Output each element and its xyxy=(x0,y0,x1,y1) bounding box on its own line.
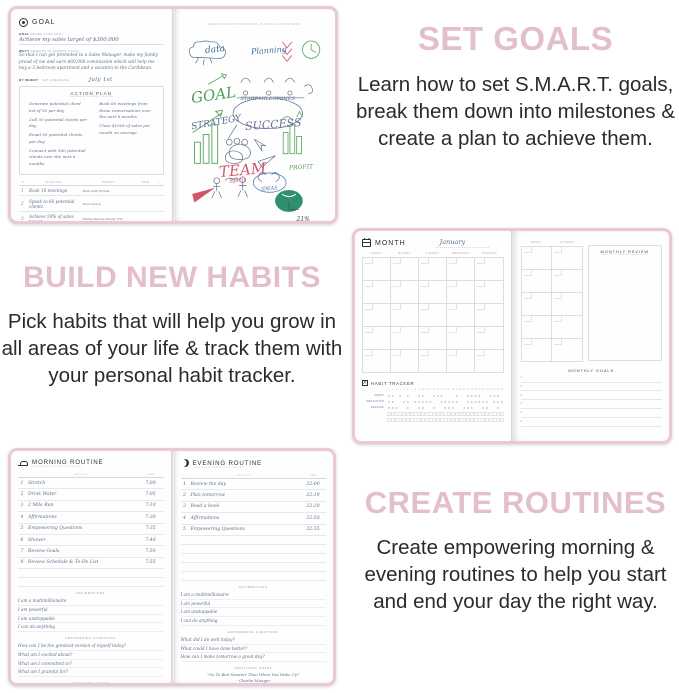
morning-routine-subtitle: THE MORNING ROUTINE FOR THE DAY xyxy=(31,466,164,468)
doodle-word: data xyxy=(204,44,225,56)
evening-routine-table: # ACTIVITY TIME 1Review the day22:002Pla… xyxy=(181,473,327,581)
activity-text: Affirmations xyxy=(26,512,138,523)
activity-time: 22:10 xyxy=(300,490,326,501)
morning-affirmations-list[interactable]: I am a multimillionaireI am powerfulI am… xyxy=(18,597,164,632)
promo-routines-body: Create empowering morning & evening rout… xyxy=(352,534,679,616)
row-number: 5 xyxy=(18,523,26,534)
row-number: 5 xyxy=(181,524,189,535)
row-number: 1 xyxy=(18,478,26,489)
activity-time: 22:50 xyxy=(300,513,326,524)
handwritten-line[interactable]: I am a multimillionaire xyxy=(18,597,164,606)
handwritten-line[interactable]: What could I have done better? xyxy=(181,645,327,654)
month-review-page: FRIDAY SATURDAY MONTHLY REVIEW REFLECTIN… xyxy=(514,231,670,441)
month-calendar-page: MONTH January SUNDAY MONDAY TUESDAY WEDN… xyxy=(355,231,511,441)
handwritten-line[interactable]: I can do anything xyxy=(181,617,327,626)
weekday-label: WEDNESDAY xyxy=(447,253,475,257)
table-row[interactable]: 4Affirmations7:30 xyxy=(18,512,164,523)
month-planner-spread: MONTH January SUNDAY MONDAY TUESDAY WEDN… xyxy=(352,228,672,444)
action-plan-right-list: Book 60 meetings from these conversation… xyxy=(95,101,157,170)
table-row-empty[interactable] xyxy=(181,544,327,553)
morning-routine-title: MORNING ROUTINE xyxy=(32,459,103,466)
evening-routine-title: EVENING ROUTINE xyxy=(193,460,262,467)
table-row: 2 Speak to 60 potential clients New Lapt… xyxy=(19,196,164,211)
deadline-field: BY WHEN? SET A DEADLINE July 1st xyxy=(19,77,164,83)
activity-time: 7:10 xyxy=(138,500,164,511)
evening-routine-page: EVENING ROUTINE WIND DOWN & REFLECT ON T… xyxy=(174,451,334,683)
why-value: So that I can get promoted to a Sales Ma… xyxy=(19,53,164,73)
list-item: Generate potential client list of 50 per… xyxy=(25,101,87,114)
calendar-day-cell[interactable] xyxy=(522,247,553,270)
evening-questions-list[interactable]: What did I do well today?What could I ha… xyxy=(181,636,327,662)
table-row[interactable]: 4Affirmations22:50 xyxy=(181,513,327,524)
evening-questions-title: EMPOWERING QUESTIONS xyxy=(181,631,327,634)
habit-name: READING xyxy=(362,406,384,409)
row-number: 3 xyxy=(181,501,189,512)
habit-tracker-title: HABIT TRACKER xyxy=(371,381,414,386)
goal-number: 5 xyxy=(521,411,522,414)
table-row-empty[interactable] xyxy=(181,571,327,580)
calendar-day-cell[interactable] xyxy=(363,281,391,304)
target-icon xyxy=(19,18,28,27)
calendar-grid-right[interactable] xyxy=(521,246,583,362)
calendar-day-cell[interactable] xyxy=(391,281,419,304)
morning-affirmations-title: AFFIRMATIONS xyxy=(18,592,164,595)
month-page-header: MONTH January xyxy=(362,238,504,248)
morning-routine-page: MORNING ROUTINE THE MORNING ROUTINE FOR … xyxy=(11,451,171,683)
calendar-day-cell[interactable] xyxy=(391,258,419,281)
calendar-day-cell[interactable] xyxy=(475,258,503,281)
habit-tracker-row[interactable] xyxy=(362,418,504,422)
activity-time: 22:55 xyxy=(300,524,326,535)
calendar-day-cell[interactable] xyxy=(363,258,391,281)
row-number: 4 xyxy=(181,513,189,524)
weekday-label: TUESDAY xyxy=(419,253,447,257)
evening-routine-header: EVENING ROUTINE xyxy=(181,459,327,467)
deadline-value: July 1st xyxy=(89,77,113,83)
list-item: Book 60 meetings from these conversation… xyxy=(95,101,157,121)
table-row-empty[interactable] xyxy=(181,562,327,571)
handwritten-line[interactable]: How can I be the greatest version of mys… xyxy=(18,642,164,651)
handwritten-line[interactable]: I can do anything xyxy=(18,623,164,632)
row-number: 7 xyxy=(18,546,26,557)
goal-number: 2 xyxy=(521,385,522,388)
activity-text: 2 Mile Run xyxy=(26,500,138,511)
calendar-day-cell[interactable] xyxy=(419,350,447,373)
weekday-label: MONDAY xyxy=(390,253,418,257)
activity-text: Stretch xyxy=(26,478,138,489)
handwritten-line[interactable]: I am powerful xyxy=(18,606,164,615)
habit-tracker-row[interactable]: MEDITATIONXX XX XXXXX XXXXX XXXXXX XXX xyxy=(362,400,504,404)
row-number: 3 xyxy=(18,500,26,511)
habit-day-cell[interactable] xyxy=(500,394,504,398)
doodle-word: MILESTONES xyxy=(259,96,295,102)
calendar-day-cell[interactable] xyxy=(363,304,391,327)
promo-create-routines: CREATE ROUTINES Create empowering mornin… xyxy=(352,487,679,615)
calendar-day-cell[interactable] xyxy=(522,316,553,339)
promo-habits-body: Pick habits that will help you grow in a… xyxy=(0,308,344,390)
action-plan-box: ACTION PLAN STEPS NEEDED TO ACHIEVE YOUR… xyxy=(19,86,164,175)
goal-number: 1 xyxy=(521,376,522,379)
activity-text: Review Goals xyxy=(26,546,138,557)
table-row[interactable]: 5Empowering Questions7:35 xyxy=(18,523,164,534)
action-plan-subtitle: STEPS NEEDED TO ACHIEVE YOUR GOAL xyxy=(25,96,158,98)
habit-day-cells[interactable]: XX X X XX XXX X XXXX XXX xyxy=(387,394,504,398)
activity-text: Shower xyxy=(26,534,138,545)
calendar-day-cell[interactable] xyxy=(447,304,475,327)
monthly-goals-title: MONTHLY GOALS xyxy=(521,368,663,373)
goal-number: 6 xyxy=(521,420,522,423)
weekday-label: FRIDAY xyxy=(521,242,552,246)
habit-tracker-row[interactable]: READINGXXX X XX X XXX XXX XX X xyxy=(362,406,504,410)
promo-build-habits: BUILD NEW HABITS Pick habits that will h… xyxy=(0,262,344,389)
table-row-empty[interactable] xyxy=(181,553,327,562)
weekday-header-row: SUNDAY MONDAY TUESDAY WEDNESDAY THURSDAY xyxy=(362,253,504,257)
habit-day-cell[interactable] xyxy=(500,412,504,416)
row-number: 6 xyxy=(18,534,26,545)
calendar-day-cell[interactable] xyxy=(419,304,447,327)
list-item: Call 50 potential clients per day xyxy=(25,117,87,130)
table-row[interactable]: 1Review the day22:00 xyxy=(181,479,327,490)
calendar-day-cell[interactable] xyxy=(447,350,475,373)
promo-set-goals: SET GOALS Learn how to set S.M.A.R.T. go… xyxy=(352,22,679,152)
activity-text: Review the day xyxy=(189,479,301,490)
evening-notes-title: ADDITIONAL NOTES xyxy=(181,667,327,670)
promo-goals-heading: SET GOALS xyxy=(352,22,679,57)
habit-day-cells[interactable] xyxy=(387,412,504,416)
calendar-day-cell[interactable] xyxy=(552,247,583,270)
handwritten-line[interactable]: I am powerful xyxy=(181,600,327,609)
row-number: 1 xyxy=(181,479,189,490)
routines-planner-spread: MORNING ROUTINE THE MORNING ROUTINE FOR … xyxy=(8,448,336,686)
checkbox-icon: ✗ xyxy=(362,380,368,386)
table-row[interactable]: 8Review Schedule & To-Do List7:55 xyxy=(18,557,164,568)
activity-text: Review Schedule & To-Do List xyxy=(26,557,138,568)
calendar-day-cell[interactable] xyxy=(447,281,475,304)
calendar-day-cell[interactable] xyxy=(391,304,419,327)
calendar-day-cell[interactable] xyxy=(419,258,447,281)
activity-time: 7:55 xyxy=(138,557,164,568)
habit-name: SPORT xyxy=(362,394,384,397)
habit-day-cell[interactable] xyxy=(500,418,504,422)
calendar-day-cell[interactable] xyxy=(447,327,475,350)
habit-day-cell[interactable] xyxy=(500,406,504,410)
calendar-day-cell[interactable] xyxy=(552,339,583,362)
morning-routine-header: MORNING ROUTINE xyxy=(18,459,164,466)
promo-habits-heading: BUILD NEW HABITS xyxy=(0,262,344,294)
activity-text: Affirmations xyxy=(189,513,301,524)
table-row[interactable]: 2Drink Water7:05 xyxy=(18,489,164,500)
row-number: 2 xyxy=(181,490,189,501)
calendar-day-cell[interactable] xyxy=(522,339,553,362)
goal-number: 4 xyxy=(521,402,522,405)
activity-text: Empowering Questions xyxy=(26,523,138,534)
table-row[interactable]: 7Review Goals7:50 xyxy=(18,546,164,557)
habit-day-cell[interactable]: X xyxy=(500,400,504,404)
handwritten-line[interactable]: What did I do well today? xyxy=(181,636,327,645)
evening-quote: "Go To Bed Smarter Than When You Woke Up… xyxy=(181,672,327,683)
handwritten-line[interactable]: How can I make tomorrow a great day? xyxy=(181,653,327,662)
handwritten-line[interactable]: What am I excited about? xyxy=(18,651,164,660)
activity-time: 7:05 xyxy=(138,489,164,500)
goal-page-header: GOAL xyxy=(19,18,164,27)
doodle-word: Spirit xyxy=(228,176,246,184)
calendar-day-cell[interactable] xyxy=(552,270,583,293)
weekday-label: THURSDAY xyxy=(475,253,503,257)
habit-day-cells[interactable]: XXX X XX X XXX XXX XX X xyxy=(387,406,504,410)
row-number: 4 xyxy=(18,512,26,523)
table-row[interactable]: 1Stretch7:00 xyxy=(18,478,164,489)
monthly-goal-row[interactable]: 2 xyxy=(521,385,663,392)
habit-day-cells[interactable]: XX XX XXXXX XXXXX XXXXXX XXX xyxy=(387,400,504,404)
day-number: 31 xyxy=(500,388,504,392)
monthly-goal-row[interactable]: 5 xyxy=(521,411,663,418)
evening-affirmations-title: AFFIRMATIONS xyxy=(181,586,327,589)
activity-time: 7:00 xyxy=(138,478,164,489)
milestones-table: # MILESTONE REWARD DATE ✓ 1 Book 10 meet… xyxy=(19,180,164,221)
handwritten-line[interactable]: What am I committed to? xyxy=(18,660,164,669)
quote-text: "Go To Bed Smarter Than When You Woke Up… xyxy=(207,672,299,677)
table-row-empty[interactable] xyxy=(181,535,327,544)
month-title: MONTH xyxy=(375,240,406,247)
monthly-goal-row[interactable]: 3 xyxy=(521,394,663,401)
monthly-goal-row[interactable]: 6 xyxy=(521,420,663,427)
row-number: 2 xyxy=(18,489,26,500)
table-row[interactable]: 32 Mile Run7:10 xyxy=(18,500,164,511)
evening-affirmations-list[interactable]: I am a multimillionaireI am powerfulI am… xyxy=(181,591,327,626)
calendar-day-cell[interactable] xyxy=(552,316,583,339)
activity-text: Plan tomorrow xyxy=(189,490,301,501)
moon-icon xyxy=(181,459,189,467)
activity-text: Drink Water xyxy=(26,489,138,500)
doodle-canvas: dataPlanningGOALSTARTMILESTONESSTRATEGYS… xyxy=(183,28,328,212)
table-row[interactable]: 3Read a book22:20 xyxy=(181,501,327,512)
activity-time: 22:00 xyxy=(300,479,326,490)
monthly-goals-list[interactable]: 123456 xyxy=(521,376,663,427)
activity-time: 7:50 xyxy=(138,546,164,557)
habit-tracker-row: 1234567891011121314151617181920212223242… xyxy=(362,388,504,392)
calendar-day-cell[interactable] xyxy=(522,270,553,293)
calendar-day-cell[interactable] xyxy=(475,327,503,350)
weekday-label: SATURDAY xyxy=(552,242,583,246)
doodle-word: 21% xyxy=(297,216,310,221)
product-feature-collage: GOAL GOAL DEFINE YOUR GOAL Achieve my sa… xyxy=(0,0,679,693)
habit-tracker-header: ✗ HABIT TRACKER xyxy=(362,380,504,386)
habit-day-cells[interactable] xyxy=(387,418,504,422)
handwritten-line[interactable]: I am unstoppable xyxy=(18,615,164,624)
calendar-day-cell[interactable] xyxy=(522,293,553,316)
calendar-day-cell[interactable] xyxy=(419,327,447,350)
table-row-empty[interactable] xyxy=(18,569,164,578)
promo-routines-heading: CREATE ROUTINES xyxy=(352,487,679,520)
handwritten-line[interactable]: I am unstoppable xyxy=(181,608,327,617)
calendar-grid-left[interactable] xyxy=(362,257,504,373)
activity-time: 7:30 xyxy=(138,512,164,523)
table-row: 3 Achieve 50% of sales target Dining Wee… xyxy=(19,211,164,221)
quote-author: - Charlie Munger xyxy=(181,678,327,683)
goal-page-title: GOAL xyxy=(32,19,55,26)
monthly-goal-row[interactable]: 1 xyxy=(521,376,663,383)
activity-text: Read a book xyxy=(189,501,301,512)
table-row: 1 Book 10 meetings Meal with friends xyxy=(19,186,164,196)
weekday-header-row-right: FRIDAY SATURDAY xyxy=(521,242,583,246)
monthly-review-box[interactable]: MONTHLY REVIEW REFLECTING ON THIS MONTH … xyxy=(588,245,662,361)
morning-notes-title: ADDITIONAL NOTES xyxy=(18,682,164,683)
sunrise-icon xyxy=(18,460,28,466)
calendar-day-cell[interactable] xyxy=(419,281,447,304)
calendar-day-cell[interactable] xyxy=(363,327,391,350)
habit-day-numbers: 1234567891011121314151617181920212223242… xyxy=(387,388,504,392)
goal-planner-spread: GOAL GOAL DEFINE YOUR GOAL Achieve my sa… xyxy=(8,6,338,224)
action-plan-left-list: Generate potential client list of 50 per… xyxy=(25,101,87,170)
habit-name: MEDITATION xyxy=(362,400,384,403)
list-item: Connect with 360 potential clients over … xyxy=(25,148,87,168)
activity-text: Empowering Questions xyxy=(189,524,301,535)
doodle-word: START xyxy=(241,96,258,102)
month-value: January xyxy=(436,238,490,248)
activity-time: 7:35 xyxy=(138,523,164,534)
activity-time: 22:20 xyxy=(300,501,326,512)
table-row[interactable]: 2Plan tomorrow22:10 xyxy=(181,490,327,501)
activity-time: 7:40 xyxy=(138,534,164,545)
evening-routine-subtitle: WIND DOWN & REFLECT ON THE DAY xyxy=(194,467,327,469)
table-row[interactable]: 5Empowering Questions22:55 xyxy=(181,524,327,535)
doodle-page: FREE SPACE FOR STRATEGIZING, PLANNING & … xyxy=(175,9,336,221)
goal-page: GOAL GOAL DEFINE YOUR GOAL Achieve my sa… xyxy=(11,9,172,221)
weekday-label: SUNDAY xyxy=(362,253,390,257)
list-item: Close $100k of sales per month on averag… xyxy=(95,123,157,136)
calendar-day-cell[interactable] xyxy=(475,350,503,373)
calendar-day-cell[interactable] xyxy=(391,350,419,373)
doodle-word: PROFIT xyxy=(288,163,312,171)
calendar-day-cell[interactable] xyxy=(363,350,391,373)
table-row[interactable]: 6Shower7:40 xyxy=(18,534,164,545)
calendar-day-cell[interactable] xyxy=(475,304,503,327)
calendar-day-cell[interactable] xyxy=(447,258,475,281)
monthly-review-subtitle: REFLECTING ON THIS MONTH - WHAT WENT WEL… xyxy=(592,254,658,256)
handwritten-line[interactable]: I am a multimillionaire xyxy=(181,591,327,600)
habit-tracker-rows[interactable]: 1234567891011121314151617181920212223242… xyxy=(362,388,504,422)
calendar-day-cell[interactable] xyxy=(552,293,583,316)
handwritten-line[interactable]: What am I grateful for? xyxy=(18,668,164,677)
doodle-page-header: FREE SPACE FOR STRATEGIZING, PLANNING & … xyxy=(183,24,328,26)
habit-tracker-row[interactable]: SPORTXX X X XX XXX X XXXX XXX xyxy=(362,394,504,398)
list-item: Email 50 potential clients per day xyxy=(25,132,87,145)
monthly-goal-row[interactable]: 4 xyxy=(521,402,663,409)
morning-questions-list[interactable]: How can I be the greatest version of mys… xyxy=(18,642,164,677)
promo-goals-body: Learn how to set S.M.A.R.T. goals, break… xyxy=(352,71,679,153)
calendar-icon xyxy=(362,239,371,247)
morning-routine-table: # ACTIVITY TIME 1Stretch7:002Drink Water… xyxy=(18,472,164,587)
calendar-day-cell[interactable] xyxy=(475,281,503,304)
habit-tracker-row[interactable] xyxy=(362,412,504,416)
calendar-day-cell[interactable] xyxy=(391,327,419,350)
table-row-empty[interactable] xyxy=(18,578,164,587)
morning-questions-title: EMPOWERING QUESTIONS xyxy=(18,637,164,640)
row-number: 8 xyxy=(18,557,26,568)
goal-value: Achieve my sales target of $300,000 xyxy=(19,36,164,45)
goal-number: 3 xyxy=(521,394,522,397)
